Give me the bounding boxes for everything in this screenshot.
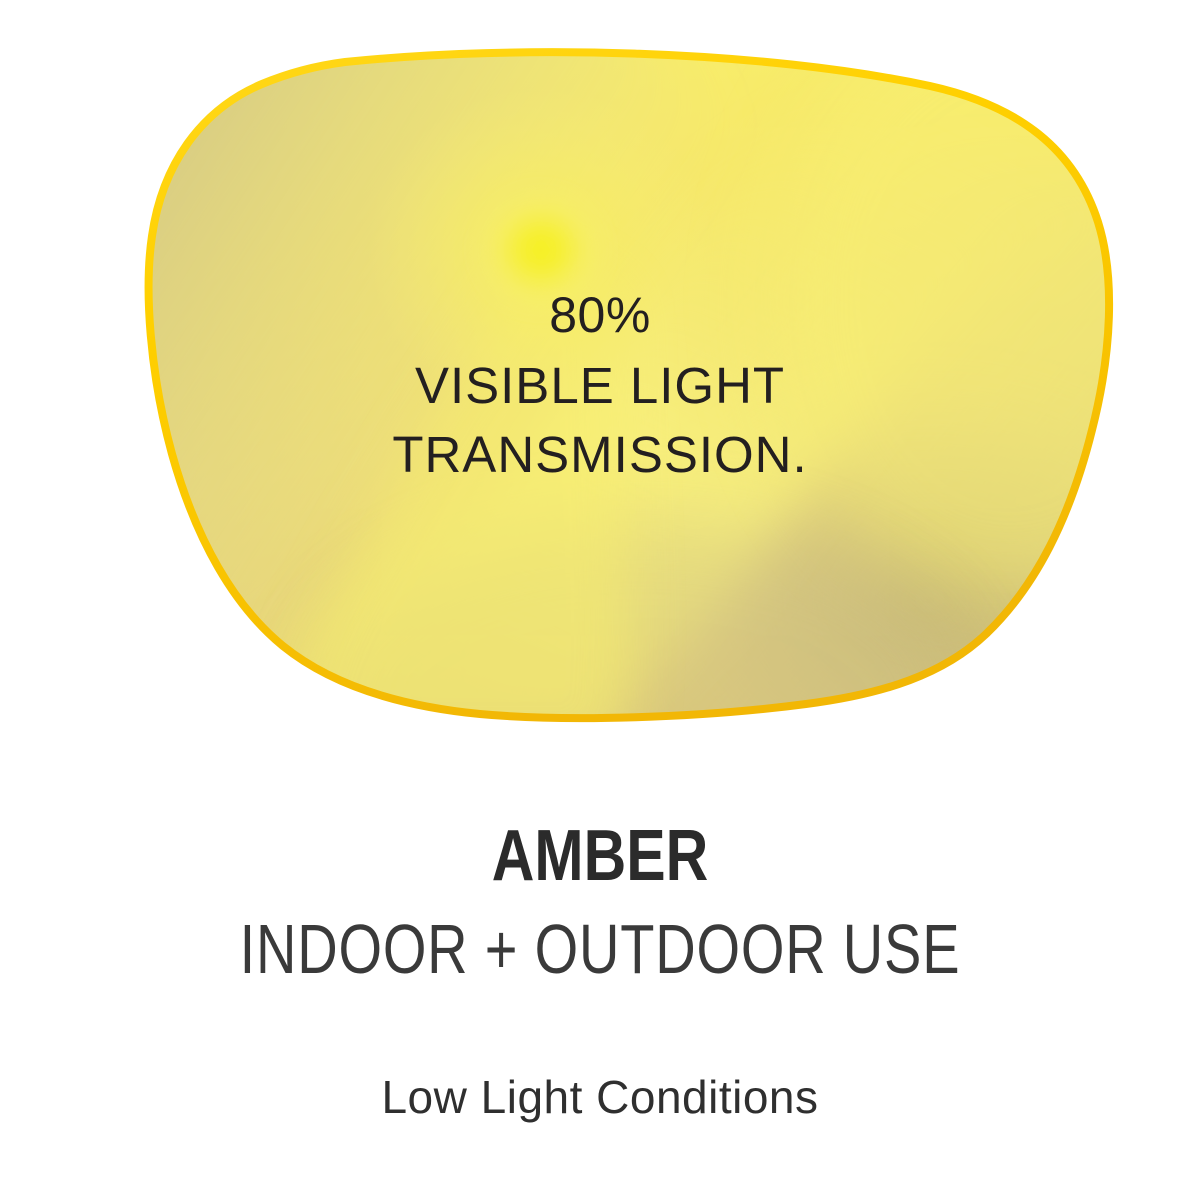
lens-name-title: AMBER xyxy=(108,820,1092,892)
lens-body xyxy=(0,0,1200,760)
lens-svg xyxy=(0,0,1200,760)
lens-illustration: 80% VISIBLE LIGHT TRANSMISSION. xyxy=(0,0,1200,760)
lens-product-card: 80% VISIBLE LIGHT TRANSMISSION. AMBER IN… xyxy=(0,0,1200,1200)
lens-conditions-note: Low Light Conditions xyxy=(0,1074,1200,1120)
lens-hotspot xyxy=(479,192,603,308)
caption-block: AMBER INDOOR + OUTDOOR USE Low Light Con… xyxy=(0,820,1200,1120)
lens-usage-subtitle: INDOOR + OUTDOOR USE xyxy=(120,914,1080,984)
